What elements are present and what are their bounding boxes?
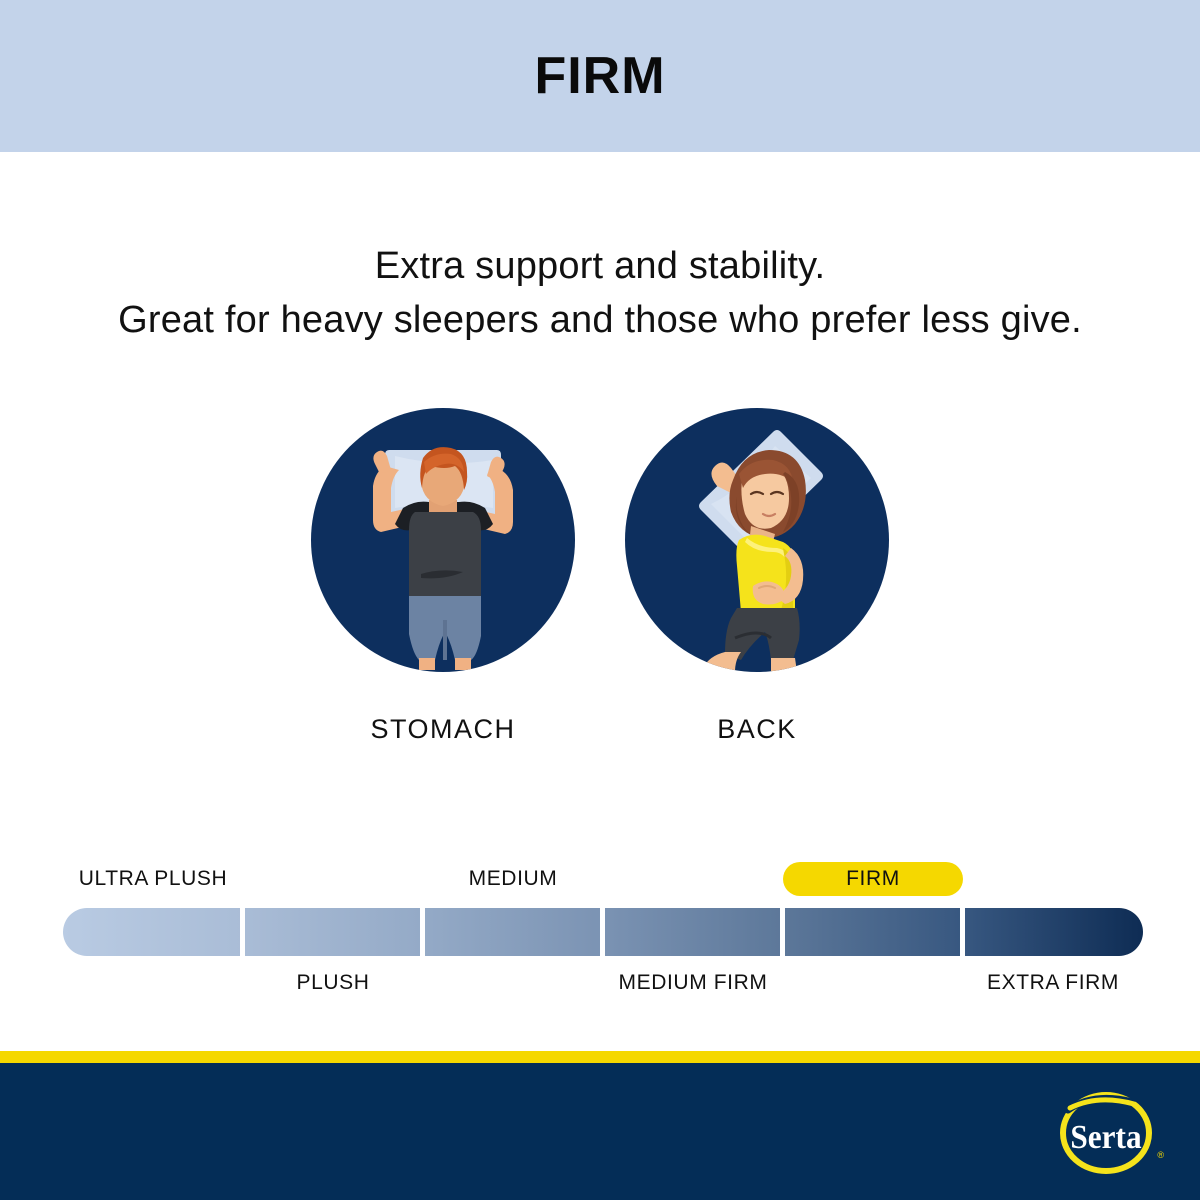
- serta-logo[interactable]: Serta: [1054, 1090, 1158, 1176]
- page-title: FIRM: [534, 50, 665, 102]
- stomach-sleeper-illustration: [311, 408, 575, 672]
- sleep-position-label-back: BACK: [717, 714, 797, 745]
- back-sleeper-illustration: [625, 408, 889, 672]
- page-footer: [0, 1063, 1200, 1200]
- firmness-label-ultra-plush[interactable]: ULTRA PLUSH: [63, 862, 243, 896]
- description-block: Extra support and stability. Great for h…: [0, 240, 1200, 348]
- firmness-labels-top: ULTRA PLUSH . MEDIUM . FIRM .: [63, 862, 1143, 896]
- firmness-label-spacer-1: .: [243, 862, 423, 896]
- registered-trademark-mark: ®: [1157, 1150, 1164, 1160]
- stomach-sleeper-circle: [311, 408, 575, 672]
- sleep-positions: STOMACH: [0, 408, 1200, 745]
- scale-divider-3: [600, 908, 605, 956]
- serta-logo-mark: Serta: [1054, 1090, 1158, 1176]
- description-line-1: Extra support and stability.: [0, 240, 1200, 294]
- scale-divider-1: [240, 908, 245, 956]
- back-sleeper-circle: [625, 408, 889, 672]
- scale-divider-5: [960, 908, 965, 956]
- page-header: FIRM: [0, 0, 1200, 152]
- firmness-scale-bar[interactable]: [63, 908, 1143, 956]
- firmness-label-spacer-6: .: [783, 966, 963, 1000]
- firmness-scale: ULTRA PLUSH . MEDIUM . FIRM . . PLUSH . …: [63, 862, 1143, 956]
- firmness-label-spacer-3: .: [963, 862, 1143, 896]
- firmness-label-medium-firm[interactable]: MEDIUM FIRM: [603, 966, 783, 1000]
- scale-divider-4: [780, 908, 785, 956]
- sleep-position-stomach: STOMACH: [311, 408, 575, 745]
- firmness-label-spacer-2: .: [603, 862, 783, 896]
- description-line-2: Great for heavy sleepers and those who p…: [0, 294, 1200, 348]
- firmness-label-spacer-4: .: [63, 966, 243, 1000]
- firmness-label-firm-active[interactable]: FIRM: [783, 862, 963, 896]
- sleep-position-label-stomach: STOMACH: [370, 714, 515, 745]
- serta-logo-text: Serta: [1070, 1119, 1141, 1156]
- firmness-label-spacer-5: .: [423, 966, 603, 1000]
- scale-divider-2: [420, 908, 425, 956]
- firmness-label-medium[interactable]: MEDIUM: [423, 862, 603, 896]
- sleep-position-back: BACK: [625, 408, 889, 745]
- firmness-label-extra-firm[interactable]: EXTRA FIRM: [963, 966, 1143, 1000]
- footer-accent-stripe: [0, 1051, 1200, 1063]
- firmness-label-plush[interactable]: PLUSH: [243, 966, 423, 1000]
- firmness-labels-bottom: . PLUSH . MEDIUM FIRM . EXTRA FIRM: [63, 966, 1143, 1000]
